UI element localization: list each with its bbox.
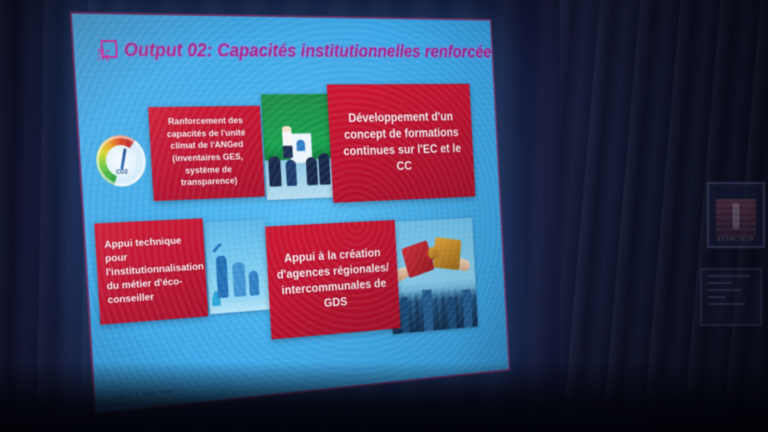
training-session-photo (261, 94, 333, 200)
notice-line (707, 282, 733, 284)
people-illustration-photo (205, 219, 270, 314)
room-scene: EXTINCTEUR Output 02: Capacités institut… (0, 0, 768, 432)
floor-shadow (0, 362, 768, 432)
audience-figure (268, 156, 282, 186)
document-burst-icon (97, 40, 117, 62)
slide-title-row: Output 02: Capacités institutionnelles r… (97, 40, 473, 63)
building-shape (447, 297, 456, 329)
content-box-anged: Ranforcement des capacités de l'unité cl… (148, 106, 265, 201)
presentation-slide: Output 02: Capacités institutionnelles r… (72, 14, 509, 413)
notice-line (707, 275, 750, 277)
wall-notice-sign (700, 268, 762, 326)
person-figure (216, 255, 229, 298)
gauge-needle-icon (120, 148, 126, 170)
audience-figure (318, 153, 331, 185)
anged-climate-logo: CO2 (95, 135, 147, 188)
moire-artifact (72, 14, 509, 413)
fire-extinguisher-icon (716, 199, 756, 237)
content-box-formations: Développement d'un concept de formations… (327, 84, 476, 203)
audience-figure (285, 160, 297, 187)
fire-extinguisher-sign: EXTINCTEUR (707, 182, 765, 248)
puzzle-piece-gold-icon (433, 237, 461, 270)
person-arm (212, 243, 221, 253)
logo-center-label: CO2 (106, 169, 137, 176)
page-title: Output 02: Capacités institutionnelles r… (123, 40, 499, 62)
scanline-artifact (72, 14, 509, 413)
notice-line (707, 289, 741, 291)
person-figure (232, 262, 246, 297)
notice-line (707, 296, 726, 298)
screen-glare (72, 14, 509, 413)
audience-figure (306, 157, 319, 185)
notice-line (707, 303, 745, 305)
presenter-figure (282, 126, 293, 158)
content-box-agences: Appui à la création d'agences régionales… (265, 220, 400, 340)
puzzle-pieces-city-photo (387, 218, 478, 334)
extinguisher-caption: EXTINCTEUR (718, 237, 755, 243)
person-figure (248, 271, 259, 296)
projection-screen: Output 02: Capacités institutionnelles r… (72, 14, 509, 413)
content-box-eco-conseiller: Appui technique pour l'institutionnalisa… (94, 218, 208, 324)
